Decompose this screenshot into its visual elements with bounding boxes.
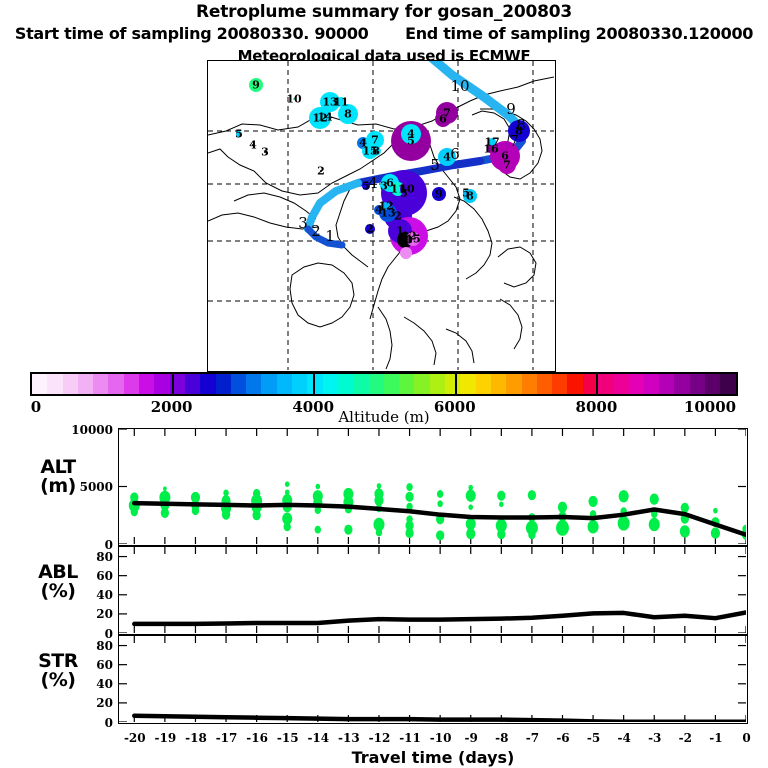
y-tick-label: 80 — [61, 550, 113, 564]
trajectory-day-label: 7 — [509, 132, 519, 150]
colorbar-swatch — [353, 374, 368, 394]
colorbar-swatch — [644, 374, 659, 394]
colorbar-swatch — [567, 374, 582, 394]
x-tick-label: -17 — [216, 731, 238, 745]
alt-scatter-blob — [618, 516, 630, 531]
x-tick-label: -3 — [648, 731, 661, 745]
y-tick-label: 60 — [61, 658, 113, 672]
colorbar-swatch — [598, 374, 613, 394]
x-tick-label: -5 — [587, 731, 600, 745]
alt-scatter-blob — [163, 487, 167, 491]
alt-scatter-blob — [192, 506, 199, 515]
start-time-label: Start time of sampling 20080330. 90000 — [15, 24, 369, 43]
trajectory-day-label: 1 — [325, 227, 335, 245]
plume-blob-label: 14 — [317, 111, 332, 124]
colorbar-swatch — [216, 374, 231, 394]
colorbar-swatch — [720, 374, 735, 394]
alt-scatter-blob — [316, 484, 321, 490]
y-tick-label: 40 — [61, 677, 113, 691]
colorbar-swatch — [154, 374, 169, 394]
alt-scatter-blob — [406, 483, 412, 491]
y-tick-label: 20 — [61, 696, 113, 710]
alt-scatter-blob — [711, 527, 720, 538]
x-tick-label: -11 — [399, 731, 421, 745]
str-panel[interactable] — [118, 635, 748, 724]
str-axis-ticks — [119, 636, 746, 722]
alt-scatter-blob — [497, 529, 505, 539]
abl-line — [134, 612, 746, 623]
map-coastlines — [208, 77, 554, 369]
plume-blob — [400, 247, 412, 259]
alt-scatter-blob — [588, 496, 597, 507]
colorbar-swatch — [277, 374, 292, 394]
colorbar-swatch — [522, 374, 537, 394]
y-tick-label: 20 — [61, 607, 113, 621]
alt-scatter-blob — [252, 510, 260, 520]
colorbar-separator — [596, 372, 598, 396]
colorbar-swatch — [506, 374, 521, 394]
alt-scatter-blob — [497, 491, 505, 501]
altitude-colorbar[interactable]: 0200040006000800010000 — [30, 372, 738, 396]
x-tick-label: -2 — [679, 731, 692, 745]
trajectory-day-label: 4 — [368, 174, 378, 192]
plume-blob-label: 4 — [249, 139, 257, 152]
x-tick-label: -20 — [124, 731, 146, 745]
plume-blob-label: 3 — [380, 180, 388, 193]
x-tick-label: -13 — [338, 731, 360, 745]
x-tick-label: -16 — [246, 731, 268, 745]
alt-scatter-blob — [528, 530, 535, 539]
y-tick-label: 5000 — [61, 480, 113, 494]
plume-blob-label: 2 — [366, 223, 374, 236]
retroplume-map[interactable]: 9101311812145432471585764546781716361110… — [207, 60, 556, 372]
colorbar-gradient — [30, 372, 738, 396]
colorbar-swatch — [460, 374, 475, 394]
trajectory-day-label: 2 — [311, 222, 321, 240]
colorbar-swatch — [93, 374, 108, 394]
alt-scatter-blob — [374, 495, 383, 506]
plume-blob-label: 12 — [378, 200, 393, 213]
colorbar-swatch — [185, 374, 200, 394]
abl-plot — [119, 547, 746, 633]
plume-blob-label: 15 — [405, 233, 420, 246]
trajectory-day-label: 3 — [298, 214, 308, 232]
colorbar-swatch — [292, 374, 307, 394]
colorbar-swatch — [552, 374, 567, 394]
plume-blob-label: 9 — [435, 188, 443, 201]
alt-scatter-blob — [437, 500, 443, 507]
plume-blob-label: 6 — [439, 113, 447, 126]
colorbar-swatch — [47, 374, 62, 394]
x-tick-label: 0 — [742, 731, 750, 745]
plume-blob-label: 3 — [261, 146, 269, 159]
alt-scatter-blob — [223, 489, 229, 496]
x-tick-label: -19 — [155, 731, 177, 745]
alt-scatter-blob — [681, 503, 689, 513]
alt-scatter-blob — [528, 490, 536, 500]
plume-blob-label: 7 — [503, 159, 511, 172]
colorbar-swatch — [32, 374, 47, 394]
alt-scatter-blob — [315, 526, 321, 534]
plume-blob-label: 16 — [483, 143, 498, 156]
plume-blob-label: 8 — [344, 108, 352, 121]
str-plot — [119, 636, 746, 722]
colorbar-swatch — [124, 374, 139, 394]
alt-scatter-blob — [131, 507, 138, 516]
alt-scatter-blob — [284, 522, 291, 531]
colorbar-swatch — [369, 374, 384, 394]
alt-scatter-blob — [680, 525, 690, 537]
page-title: Retroplume summary for gosan_200803 — [0, 2, 768, 22]
alt-scatter-blob — [649, 518, 660, 531]
alt-scatter-blob — [377, 483, 382, 489]
colorbar-swatch — [200, 374, 215, 394]
colorbar-swatch — [261, 374, 276, 394]
x-axis-title: Travel time (days) — [118, 748, 748, 767]
plume-blob-label: 8 — [372, 145, 380, 158]
plume-blob-label: 5 — [235, 128, 243, 141]
colorbar-swatch — [246, 374, 261, 394]
alt-scatter-blob — [713, 508, 718, 514]
alt-scatter-blob — [556, 520, 569, 536]
plume-blob-label: 10 — [399, 183, 414, 196]
x-tick-label: -14 — [307, 731, 329, 745]
colorbar-swatch — [399, 374, 414, 394]
alt-scatter-blob — [436, 530, 444, 540]
colorbar-separator — [313, 372, 315, 396]
alt-scatter-blob — [650, 494, 659, 505]
end-time-label: End time of sampling 20080330.120000 — [405, 24, 753, 43]
alt-scatter-blob — [222, 510, 230, 520]
x-tick-label: -4 — [617, 731, 630, 745]
alt-scatter-blob — [437, 490, 443, 498]
colorbar-title: Altitude (m) — [0, 408, 768, 426]
trajectory-day-label: 10 — [450, 77, 469, 95]
colorbar-swatch — [78, 374, 93, 394]
y-tick-label: 0 — [61, 716, 113, 730]
plume-blob-label: 2 — [317, 165, 325, 178]
trajectory-day-label: 6 — [450, 145, 460, 163]
colorbar-swatch — [491, 374, 506, 394]
alt-scatter-blob — [466, 528, 475, 539]
y-tick-label: 10000 — [61, 423, 113, 437]
alt-scatter-blob — [376, 529, 382, 537]
x-tick-label: -15 — [277, 731, 299, 745]
colorbar-swatch — [705, 374, 720, 394]
alt-scatter-blob — [619, 490, 629, 502]
colorbar-swatch — [63, 374, 78, 394]
trajectory-day-label: 9 — [506, 100, 516, 118]
alt-scatter-blob — [405, 528, 413, 538]
alt-scatter-blob — [499, 502, 504, 508]
plume-blob-label: 9 — [252, 79, 260, 92]
y-tick-label: 40 — [61, 588, 113, 602]
alt-plot — [119, 429, 746, 544]
alt-scatter-blob — [558, 502, 567, 513]
x-tick-label: -7 — [526, 731, 539, 745]
colorbar-swatch — [108, 374, 123, 394]
colorbar-separator — [455, 372, 457, 396]
plume-blob-label: 10 — [286, 93, 301, 106]
x-tick-label: -9 — [465, 731, 478, 745]
colorbar-swatch — [323, 374, 338, 394]
colorbar-swatch — [659, 374, 674, 394]
trajectory-day-label: 5 — [430, 156, 440, 174]
plume-blob-label: 4 — [407, 128, 415, 141]
colorbar-swatch — [629, 374, 644, 394]
colorbar-swatch — [231, 374, 246, 394]
abl-panel[interactable] — [118, 546, 748, 635]
colorbar-swatch — [445, 374, 460, 394]
alt-panel[interactable] — [118, 428, 748, 546]
colorbar-swatch — [384, 374, 399, 394]
alt-scatter-blob — [344, 525, 352, 535]
colorbar-swatch — [537, 374, 552, 394]
colorbar-separator — [172, 372, 174, 396]
colorbar-swatch — [674, 374, 689, 394]
y-tick-label: 60 — [61, 569, 113, 583]
plume-blob-label: 5 — [462, 187, 470, 200]
x-tick-label: -18 — [185, 731, 207, 745]
alt-scatter-blob — [161, 508, 169, 518]
y-tick-label: 80 — [61, 639, 113, 653]
x-tick-label: -10 — [430, 731, 452, 745]
x-tick-label: -6 — [556, 731, 569, 745]
colorbar-swatch — [338, 374, 353, 394]
colorbar-swatch — [430, 374, 445, 394]
colorbar-swatch — [476, 374, 491, 394]
alt-scatter-blob — [588, 520, 599, 533]
colorbar-swatch — [139, 374, 154, 394]
alt-scatter-blob — [285, 481, 290, 487]
alt-scatter-blob — [466, 490, 476, 502]
alt-scatter-blob — [468, 504, 473, 510]
x-tick-label: -1 — [709, 731, 722, 745]
alt-scatter-blob — [405, 492, 413, 502]
colorbar-swatch — [613, 374, 628, 394]
sampling-time-row: Start time of sampling 20080330. 90000 E… — [0, 24, 768, 43]
colorbar-swatch — [690, 374, 705, 394]
x-tick-label: -8 — [495, 731, 508, 745]
colorbar-swatch — [414, 374, 429, 394]
x-tick-label: -12 — [369, 731, 391, 745]
